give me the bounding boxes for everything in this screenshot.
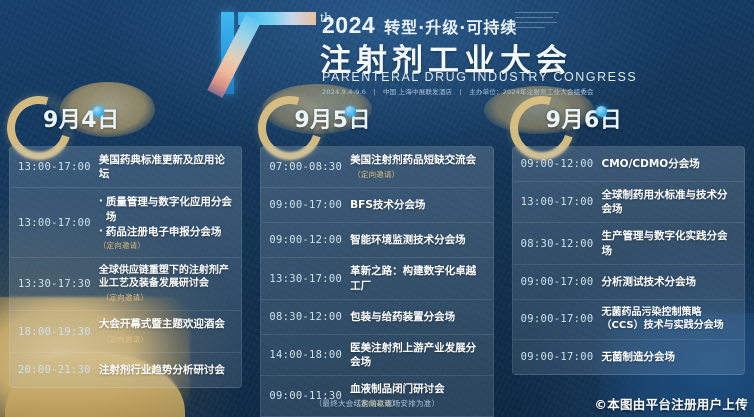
day-column-2: 9月5日07:00-08:30美国注射剂药品短缺交流会（定向邀请）09:00-1… <box>251 100 502 390</box>
session-row[interactable]: 09:00-17:00BFS技术分会场 <box>261 188 492 223</box>
session-title: 医美注射剂上游产业发展分会场 <box>350 341 484 369</box>
session-time: 09:00-17:00 <box>521 276 594 288</box>
session-title-text: CMO/CDMO分会场 <box>602 158 700 170</box>
day-column-3: 9月6日09:00-12:00CMO/CDMO分会场13:00-17:00全球制… <box>503 100 754 390</box>
session-row[interactable]: 13:30-17:30全球供应链重塑下的注射剂产业工艺及装备发展研讨会（定向邀请… <box>10 258 241 312</box>
session-title-text: 医美注射剂上游产业发展分会场 <box>350 342 476 368</box>
logo-digit-seven <box>238 12 316 100</box>
session-title-wrap: 全球供应链重塑下的注射剂产业工艺及装备发展研讨会（定向邀请） <box>99 264 233 305</box>
session-title: 注射剂行业趋势分析研讨会 <box>99 363 233 377</box>
session-title-text: 美国注射剂药品短缺交流会 <box>350 154 476 166</box>
session-row[interactable]: 13:00-17:00美国药典标准更新及应用论坛 <box>10 147 241 188</box>
session-bullet-item: 药品注册电子申报分会场 <box>99 225 233 239</box>
session-title-wrap: CMO/CDMO分会场 <box>602 157 736 171</box>
poster-header: th 2024 转型·升级·可持续 注射剂工业大会 PARENTERAL DRU… <box>0 0 754 100</box>
session-title-text: 大会开幕式暨主题欢迎酒会 <box>99 318 225 330</box>
session-row[interactable]: 08:30-12:00生产管理与数字化实践分会场 <box>513 223 744 264</box>
day-column-1: 9月4日13:00-17:00美国药典标准更新及应用论坛13:00-17:00质… <box>0 100 251 390</box>
conference-schedule-poster: th 2024 转型·升级·可持续 注射剂工业大会 PARENTERAL DRU… <box>0 0 754 417</box>
session-title-wrap: BFS技术分会场 <box>350 198 484 212</box>
meta-separator-1: | <box>368 88 380 96</box>
session-time: 20:00-21:30 <box>18 364 91 376</box>
session-row[interactable]: 08:30-12:00包装与给药装置分会场 <box>261 300 492 335</box>
session-time: 13:00-17:00 <box>18 217 91 229</box>
session-title-text: 注射剂行业趋势分析研讨会 <box>99 364 225 376</box>
session-title-text: 全球供应链重塑下的注射剂产业工艺及装备发展研讨会 <box>99 265 229 290</box>
session-title-wrap: 无菌制造分会场 <box>602 350 736 364</box>
session-title-wrap: 美国药典标准更新及应用论坛 <box>99 153 233 181</box>
session-title-wrap: 医美注射剂上游产业发展分会场 <box>350 341 484 369</box>
session-title-wrap: 质量管理与数字化应用分会场药品注册电子申报分会场（定向邀请） <box>99 194 233 251</box>
session-row[interactable]: 09:00-17:00无菌药品污染控制策略（CCS）技术与实践分会场 <box>513 300 744 340</box>
session-title-wrap: 全球制药用水标准与技术分会场 <box>602 188 736 216</box>
session-time: 13:30-17:00 <box>269 273 342 285</box>
meta-organizer: 主办单位：2024年注射剂工业大会组委会 <box>469 88 594 96</box>
session-title: 大会开幕式暨主题欢迎酒会（定向邀请） <box>99 317 233 345</box>
session-title-text: 包装与给药装置分会场 <box>350 311 455 323</box>
session-row[interactable]: 09:00-11:30血液制品闭门研讨会（定向邀请） <box>261 376 492 417</box>
session-time: 13:00-17:00 <box>521 196 594 208</box>
session-row[interactable]: 18:00-19:30大会开幕式暨主题欢迎酒会（定向邀请） <box>10 311 241 352</box>
session-time: 08:30-12:00 <box>269 311 342 323</box>
session-time: 18:00-19:30 <box>18 326 91 338</box>
session-time: 09:00-12:00 <box>269 234 342 246</box>
session-card: 09:00-12:00CMO/CDMO分会场13:00-17:00全球制药用水标… <box>512 146 745 375</box>
invitation-only-badge: （定向邀请） <box>99 240 233 251</box>
session-time: 09:00-17:00 <box>521 313 594 325</box>
session-title: 全球供应链重塑下的注射剂产业工艺及装备发展研讨会（定向邀请） <box>99 264 233 305</box>
session-title-text: 血液制品闭门研讨会 <box>350 383 445 395</box>
session-title: 美国注射剂药品短缺交流会（定向邀请） <box>350 153 484 181</box>
session-title: CMO/CDMO分会场 <box>602 157 736 171</box>
session-title-wrap: 生产管理与数字化实践分会场 <box>602 229 736 257</box>
logo-seven-diagonal-stroke <box>207 14 261 97</box>
session-title: 智能环境监测技术分会场 <box>350 233 484 247</box>
session-row[interactable]: 09:00-17:00无菌制造分会场 <box>513 340 744 374</box>
day-header-1: 9月4日 <box>9 100 242 144</box>
session-title-wrap: 包装与给药装置分会场 <box>350 310 484 324</box>
session-title-wrap: 无菌药品污染控制策略（CCS）技术与实践分会场 <box>602 306 736 333</box>
session-time: 09:00-17:00 <box>269 199 342 211</box>
session-title: 革新之路：构建数字化卓越工厂 <box>350 264 484 292</box>
session-bullet-item: 质量管理与数字化应用分会场 <box>99 195 233 223</box>
invitation-only-badge: （定向邀请） <box>102 293 148 302</box>
session-title: 生产管理与数字化实践分会场 <box>602 229 736 257</box>
day-label: 9月4日 <box>43 102 120 134</box>
day-header-2: 9月5日 <box>260 100 493 144</box>
session-title-wrap: 革新之路：构建数字化卓越工厂 <box>350 264 484 292</box>
session-title-text: 革新之路：构建数字化卓越工厂 <box>350 265 476 291</box>
page-subtitle-english: PARENTERAL DRUG INDUSTRY CONGRESS <box>322 70 637 84</box>
session-row[interactable]: 09:00-12:00CMO/CDMO分会场 <box>513 147 744 182</box>
session-title-wrap: 分析测试技术分会场 <box>602 275 736 289</box>
session-title: 美国药典标准更新及应用论坛 <box>99 153 233 181</box>
session-title: 全球制药用水标准与技术分会场 <box>602 188 736 216</box>
day-label: 9月5日 <box>294 102 371 134</box>
session-time: 09:00-12:00 <box>521 158 594 170</box>
session-title-wrap: 注射剂行业趋势分析研讨会 <box>99 363 233 377</box>
session-row[interactable]: 13:30-17:00革新之路：构建数字化卓越工厂 <box>261 258 492 299</box>
session-row[interactable]: 13:00-17:00质量管理与数字化应用分会场药品注册电子申报分会场（定向邀请… <box>10 188 241 258</box>
blue-dot-icon <box>345 106 356 117</box>
session-title-text: 全球制药用水标准与技术分会场 <box>602 189 728 215</box>
meta-date: 2024.9.4-9.6 <box>322 88 366 96</box>
session-time: 13:30-17:30 <box>18 278 91 290</box>
session-title-text: 无菌药品污染控制策略（CCS）技术与实践分会场 <box>602 307 724 332</box>
session-card: 13:00-17:00美国药典标准更新及应用论坛13:00-17:00质量管理与… <box>9 146 242 388</box>
session-row[interactable]: 09:00-17:00分析测试技术分会场 <box>513 265 744 300</box>
session-time: 08:30-12:00 <box>521 238 594 250</box>
session-title-wrap: 大会开幕式暨主题欢迎酒会（定向邀请） <box>99 317 233 345</box>
session-title-text: 美国药典标准更新及应用论坛 <box>99 154 225 180</box>
session-row[interactable]: 13:00-17:00全球制药用水标准与技术分会场 <box>513 182 744 223</box>
day-label: 9月6日 <box>546 102 623 134</box>
session-title: 分析测试技术分会场 <box>602 275 736 289</box>
session-time: 13:00-17:00 <box>18 161 91 173</box>
session-time: 14:00-18:00 <box>269 349 342 361</box>
watermark-credit: ©本图由平台注册用户上传 <box>594 394 748 413</box>
meta-separator-2: | <box>455 88 467 96</box>
session-title-wrap: 美国注射剂药品短缺交流会（定向邀请） <box>350 153 484 181</box>
session-title-text: 生产管理与数字化实践分会场 <box>602 230 728 256</box>
session-title: BFS技术分会场 <box>350 198 484 212</box>
session-time: 09:00-17:00 <box>521 351 594 363</box>
session-bullet-list: 质量管理与数字化应用分会场药品注册电子申报分会场 <box>99 195 233 239</box>
header-meta-line: 2024.9.4-9.6 | 中国 上海中展联发酒店 | 主办单位：2024年注… <box>322 86 594 96</box>
session-card: 07:00-08:30美国注射剂药品短缺交流会（定向邀请）09:00-17:00… <box>260 146 493 417</box>
session-title-text: 分析测试技术分会场 <box>602 276 697 288</box>
session-title-text: 无菌制造分会场 <box>602 351 676 363</box>
session-title: 包装与给药装置分会场 <box>350 310 484 324</box>
session-title-text: BFS技术分会场 <box>350 199 425 211</box>
session-title: 无菌药品污染控制策略（CCS）技术与实践分会场 <box>602 306 736 333</box>
session-title: 无菌制造分会场 <box>602 350 736 364</box>
session-row[interactable]: 07:00-08:30美国注射剂药品短缺交流会（定向邀请） <box>261 147 492 188</box>
session-title-wrap: 智能环境监测技术分会场 <box>350 233 484 247</box>
session-row[interactable]: 20:00-21:30注射剂行业趋势分析研讨会 <box>10 353 241 387</box>
session-row[interactable]: 14:00-18:00医美注射剂上游产业发展分会场 <box>261 335 492 376</box>
invitation-only-badge: （定向邀请） <box>102 335 148 344</box>
session-time: 07:00-08:30 <box>269 161 342 173</box>
blue-dot-icon <box>596 106 607 117</box>
day-header-3: 9月6日 <box>512 100 745 144</box>
session-row[interactable]: 09:00-12:00智能环境监测技术分会场 <box>261 223 492 258</box>
schedule-columns: 9月4日13:00-17:00美国药典标准更新及应用论坛13:00-17:00质… <box>0 100 754 390</box>
meta-venue: 中国 上海中展联发酒店 <box>383 88 452 96</box>
session-title-text: 智能环境监测技术分会场 <box>350 234 466 246</box>
invitation-only-badge: （定向邀请） <box>353 170 399 179</box>
